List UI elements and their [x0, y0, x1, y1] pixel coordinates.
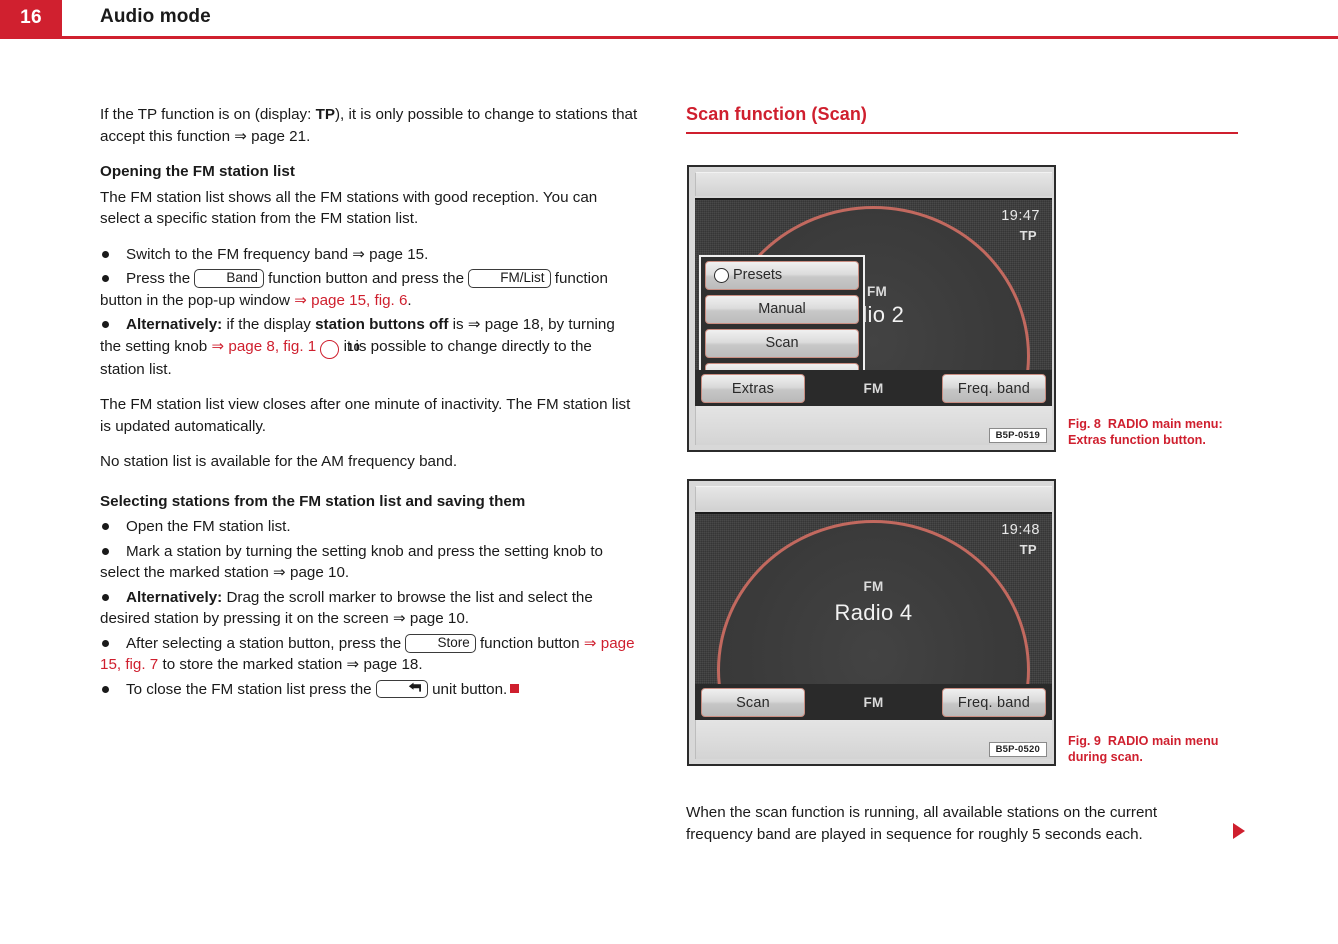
paragraph-list-description: The FM station list shows all the FM sta… — [100, 187, 640, 230]
popup-item-label: Scan — [765, 336, 798, 351]
sel-bullet5-a: To close the FM station list press the — [126, 681, 376, 698]
figure-caption-label: Fig. 8 — [1068, 417, 1101, 431]
list-item: Press the Band function button and press… — [100, 268, 640, 311]
bullet3-ref: ⇒ page 8, fig. 1 — [211, 338, 316, 355]
bullet-text: Open the FM station list. — [126, 518, 291, 535]
sel-bullet3-lead: Alternatively: — [126, 589, 222, 606]
bullet-icon — [102, 686, 109, 693]
bullet-text: After selecting a station button, press … — [100, 633, 640, 676]
heading-opening-fm-station-list: Opening the FM station list — [100, 161, 640, 183]
list-item: After selecting a station button, press … — [100, 633, 640, 676]
bullet3-bold: station buttons off — [315, 316, 448, 333]
band-label: FM — [695, 579, 1052, 594]
figure-9-caption: Fig. 9RADIO main menu during scan. — [1068, 733, 1248, 765]
bullet2-end: . — [407, 292, 411, 309]
store-keycap[interactable]: Store — [405, 634, 475, 653]
popup-item-label: Presets — [733, 268, 782, 283]
band-keycap[interactable]: Band — [194, 269, 264, 288]
bullet-icon — [102, 251, 109, 258]
tp-bold: TP — [316, 106, 335, 123]
clock-display: 19:48 — [1001, 522, 1040, 538]
bullet-text: To close the FM station list press the u… — [100, 679, 640, 701]
list-item: Open the FM station list. — [100, 516, 640, 538]
device-bezel-top — [695, 486, 1052, 510]
sel-bullet5-b: unit button. — [428, 681, 507, 698]
right-column: Scan function (Scan) — [686, 104, 1238, 134]
station-name: Radio 4 — [695, 600, 1052, 626]
left-text-column: If the TP function is on (display: TP), … — [100, 104, 640, 703]
figure-8-caption: Fig. 8RADIO main menu: Extras function b… — [1068, 416, 1248, 448]
list-item: Alternatively: if the display station bu… — [100, 314, 640, 380]
continue-arrow-icon — [1233, 823, 1245, 839]
radio-circle-icon — [714, 268, 729, 283]
popup-item-label: Manual — [758, 302, 806, 317]
bullet2-a: Press the — [126, 270, 194, 287]
bullet-icon — [102, 321, 109, 328]
figure-radio-main-menu-extras: 19:47 TP FM dio 2 Presets Manual Scan — [687, 165, 1056, 452]
bullet-text: Press the Band function button and press… — [100, 268, 640, 311]
figure-radio-main-menu-during-scan: 19:48 TP FM Radio 4 FM Scan Freq. band B… — [687, 479, 1056, 766]
end-of-section-marker — [510, 684, 519, 693]
page-title: Audio mode — [100, 6, 211, 28]
bullet-text: Mark a station by turning the setting kn… — [100, 541, 640, 584]
popup-item-presets[interactable]: Presets — [705, 261, 859, 290]
bullet-icon — [102, 548, 109, 555]
section-heading-scan-function: Scan function (Scan) — [686, 104, 1238, 125]
fmlist-keycap[interactable]: FM/List — [468, 269, 550, 288]
page-number: 16 — [0, 0, 62, 36]
tp-status-indicator: TP — [1020, 228, 1037, 243]
softkey-middle-label: FM — [807, 684, 940, 721]
softkey-freq-band-button[interactable]: Freq. band — [942, 374, 1046, 403]
bullet-text: Switch to the FM frequency band ⇒ page 1… — [126, 246, 428, 263]
bullet3-lead: Alternatively: — [126, 316, 222, 333]
paragraph-list-closes: The FM station list view closes after on… — [100, 394, 640, 437]
bullet-text: Alternatively: Drag the scroll marker to… — [100, 587, 640, 630]
radio-screen: 19:47 TP FM dio 2 Presets Manual Scan — [695, 198, 1052, 407]
tp-intro-ref: ⇒ page 21 — [234, 128, 306, 145]
device-bezel-top — [695, 172, 1052, 196]
figure-code-tag: B5P-0520 — [989, 742, 1047, 757]
bullet-icon — [102, 640, 109, 647]
back-arrow-icon — [408, 682, 422, 693]
softkey-scan-button[interactable]: Scan — [701, 688, 805, 717]
softkey-middle-label: FM — [807, 370, 940, 407]
heading-selecting-stations: Selecting stations from the FM station l… — [100, 491, 640, 513]
callout-number-10: 10 — [320, 340, 339, 359]
tp-status-indicator: TP — [1020, 542, 1037, 557]
radio-screen: 19:48 TP FM Radio 4 FM Scan Freq. band — [695, 512, 1052, 721]
figure-code-tag: B5P-0519 — [989, 428, 1047, 443]
bullet-icon — [102, 523, 109, 530]
paragraph-tp-intro: If the TP function is on (display: TP), … — [100, 104, 640, 147]
tp-intro-a: If the TP function is on (display: — [100, 106, 316, 123]
bullet-icon — [102, 275, 109, 282]
popup-item-scan[interactable]: Scan — [705, 329, 859, 358]
header-rule — [0, 36, 1338, 39]
bullet3-a: if the display — [222, 316, 315, 333]
clock-display: 19:47 — [1001, 208, 1040, 224]
paragraph-scan-explanation: When the scan function is running, all a… — [686, 802, 1216, 845]
sel-bullet4-b: function button — [476, 635, 584, 652]
paragraph-no-am-list: No station list is available for the AM … — [100, 451, 640, 473]
popup-item-manual[interactable]: Manual — [705, 295, 859, 324]
section-rule — [686, 132, 1238, 134]
sel-bullet4-c: to store the marked station ⇒ page 18. — [158, 656, 422, 673]
band-label: FM — [867, 284, 887, 299]
back-arrow-keycap[interactable] — [376, 680, 428, 698]
sel-bullet4-a: After selecting a station button, press … — [126, 635, 405, 652]
figure-caption-label: Fig. 9 — [1068, 734, 1101, 748]
softkey-freq-band-button[interactable]: Freq. band — [942, 688, 1046, 717]
list-item: Switch to the FM frequency band ⇒ page 1… — [100, 244, 640, 266]
list-item: To close the FM station list press the u… — [100, 679, 640, 701]
tp-intro-end: . — [306, 128, 310, 145]
softkey-extras-button[interactable]: Extras — [701, 374, 805, 403]
bullet-text: Alternatively: if the display station bu… — [100, 314, 640, 380]
list-item: Mark a station by turning the setting kn… — [100, 541, 640, 584]
bullet2-ref: ⇒ page 15, fig. 6 — [294, 292, 407, 309]
page-header: 16 Audio mode — [0, 0, 1338, 40]
bullet-icon — [102, 594, 109, 601]
list-item: Alternatively: Drag the scroll marker to… — [100, 587, 640, 630]
bullet2-b: function button and press the — [264, 270, 468, 287]
